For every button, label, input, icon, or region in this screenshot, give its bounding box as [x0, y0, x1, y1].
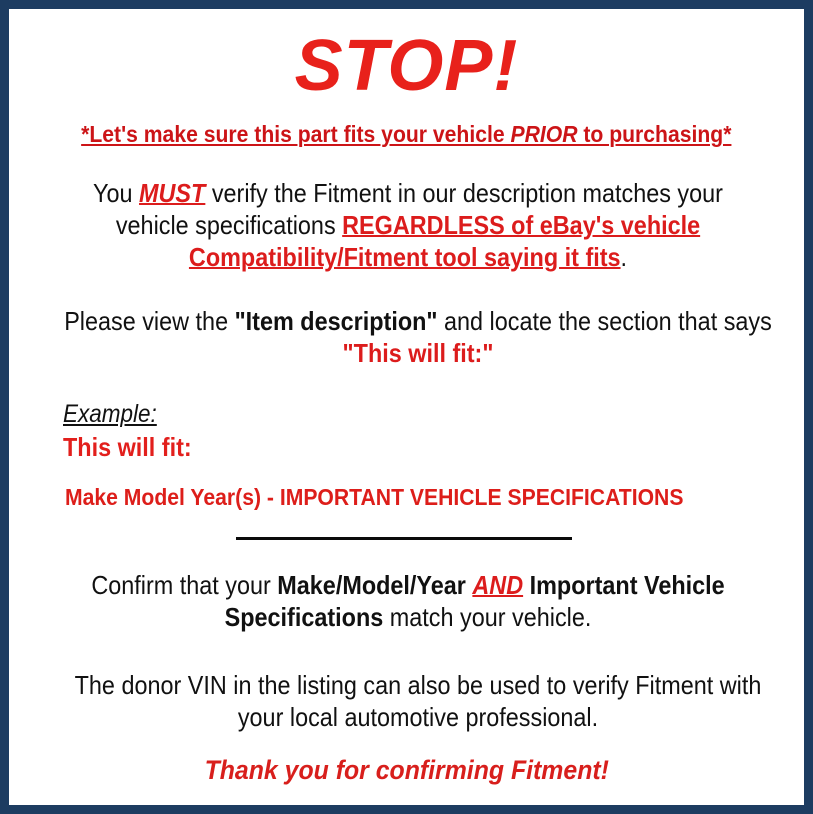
- confirm-part-2: match your vehicle.: [383, 602, 591, 632]
- example-block: Example: This will fit: Make Model Year(…: [23, 399, 790, 511]
- example-label-row: Example:: [63, 399, 790, 429]
- thanks-line-text: Thank you for confirming Fitment!: [204, 753, 608, 787]
- vin-paragraph: The donor VIN in the listing can also be…: [23, 669, 813, 733]
- example-label: Example:: [63, 399, 157, 429]
- must-part-1: You: [93, 178, 139, 208]
- item-part-1: Please view the: [64, 306, 234, 336]
- confirm-paragraph-inner: Confirm that your Make/Model/Year AND Im…: [62, 569, 755, 633]
- tagline-text-after: to purchasing*: [578, 121, 732, 147]
- example-fit-heading: This will fit:: [63, 431, 790, 463]
- item-description-paragraph-inner: Please view the "Item description" and l…: [63, 305, 774, 369]
- tagline-text-before: *Let's make sure this part fits your veh…: [81, 121, 510, 147]
- this-will-fit-quote: "This will fit:": [343, 338, 494, 368]
- item-description-emphasis: "Item description": [235, 306, 438, 336]
- thanks-line: Thank you for confirming Fitment!: [23, 753, 790, 787]
- confirm-part-1: Confirm that your: [91, 570, 277, 600]
- tagline-emphasis-prior: PRIOR: [511, 121, 578, 147]
- tagline-row: *Let's make sure this part fits your veh…: [23, 119, 790, 149]
- confirm-make-model-year: Make/Model/Year: [277, 570, 466, 600]
- example-spec-line-text: Make Model Year(s) - IMPORTANT VEHICLE S…: [65, 483, 683, 511]
- must-verify-paragraph-inner: You MUST verify the Fitment in our descr…: [62, 177, 755, 273]
- must-verify-paragraph: You MUST verify the Fitment in our descr…: [23, 177, 793, 273]
- must-emphasis: MUST: [139, 178, 205, 208]
- must-part-3: .: [621, 242, 628, 272]
- confirm-paragraph: Confirm that your Make/Model/Year AND Im…: [23, 569, 793, 633]
- vin-paragraph-text: The donor VIN in the listing can also be…: [63, 669, 774, 733]
- stop-headline: STOP!: [23, 9, 790, 105]
- fitment-notice-frame: STOP! *Let's make sure this part fits yo…: [0, 0, 813, 814]
- example-spec-line: Make Model Year(s) - IMPORTANT VEHICLE S…: [63, 483, 790, 511]
- item-part-2: and locate the section that says: [438, 306, 772, 336]
- horizontal-divider: [236, 537, 572, 540]
- fitment-notice-content: STOP! *Let's make sure this part fits yo…: [9, 9, 804, 805]
- tagline: *Let's make sure this part fits your veh…: [81, 119, 731, 149]
- divider-wrap: [23, 533, 790, 543]
- item-description-paragraph: Please view the "Item description" and l…: [23, 305, 813, 369]
- example-fit-heading-text: This will fit:: [63, 431, 192, 463]
- confirm-and-emphasis: AND: [472, 570, 523, 600]
